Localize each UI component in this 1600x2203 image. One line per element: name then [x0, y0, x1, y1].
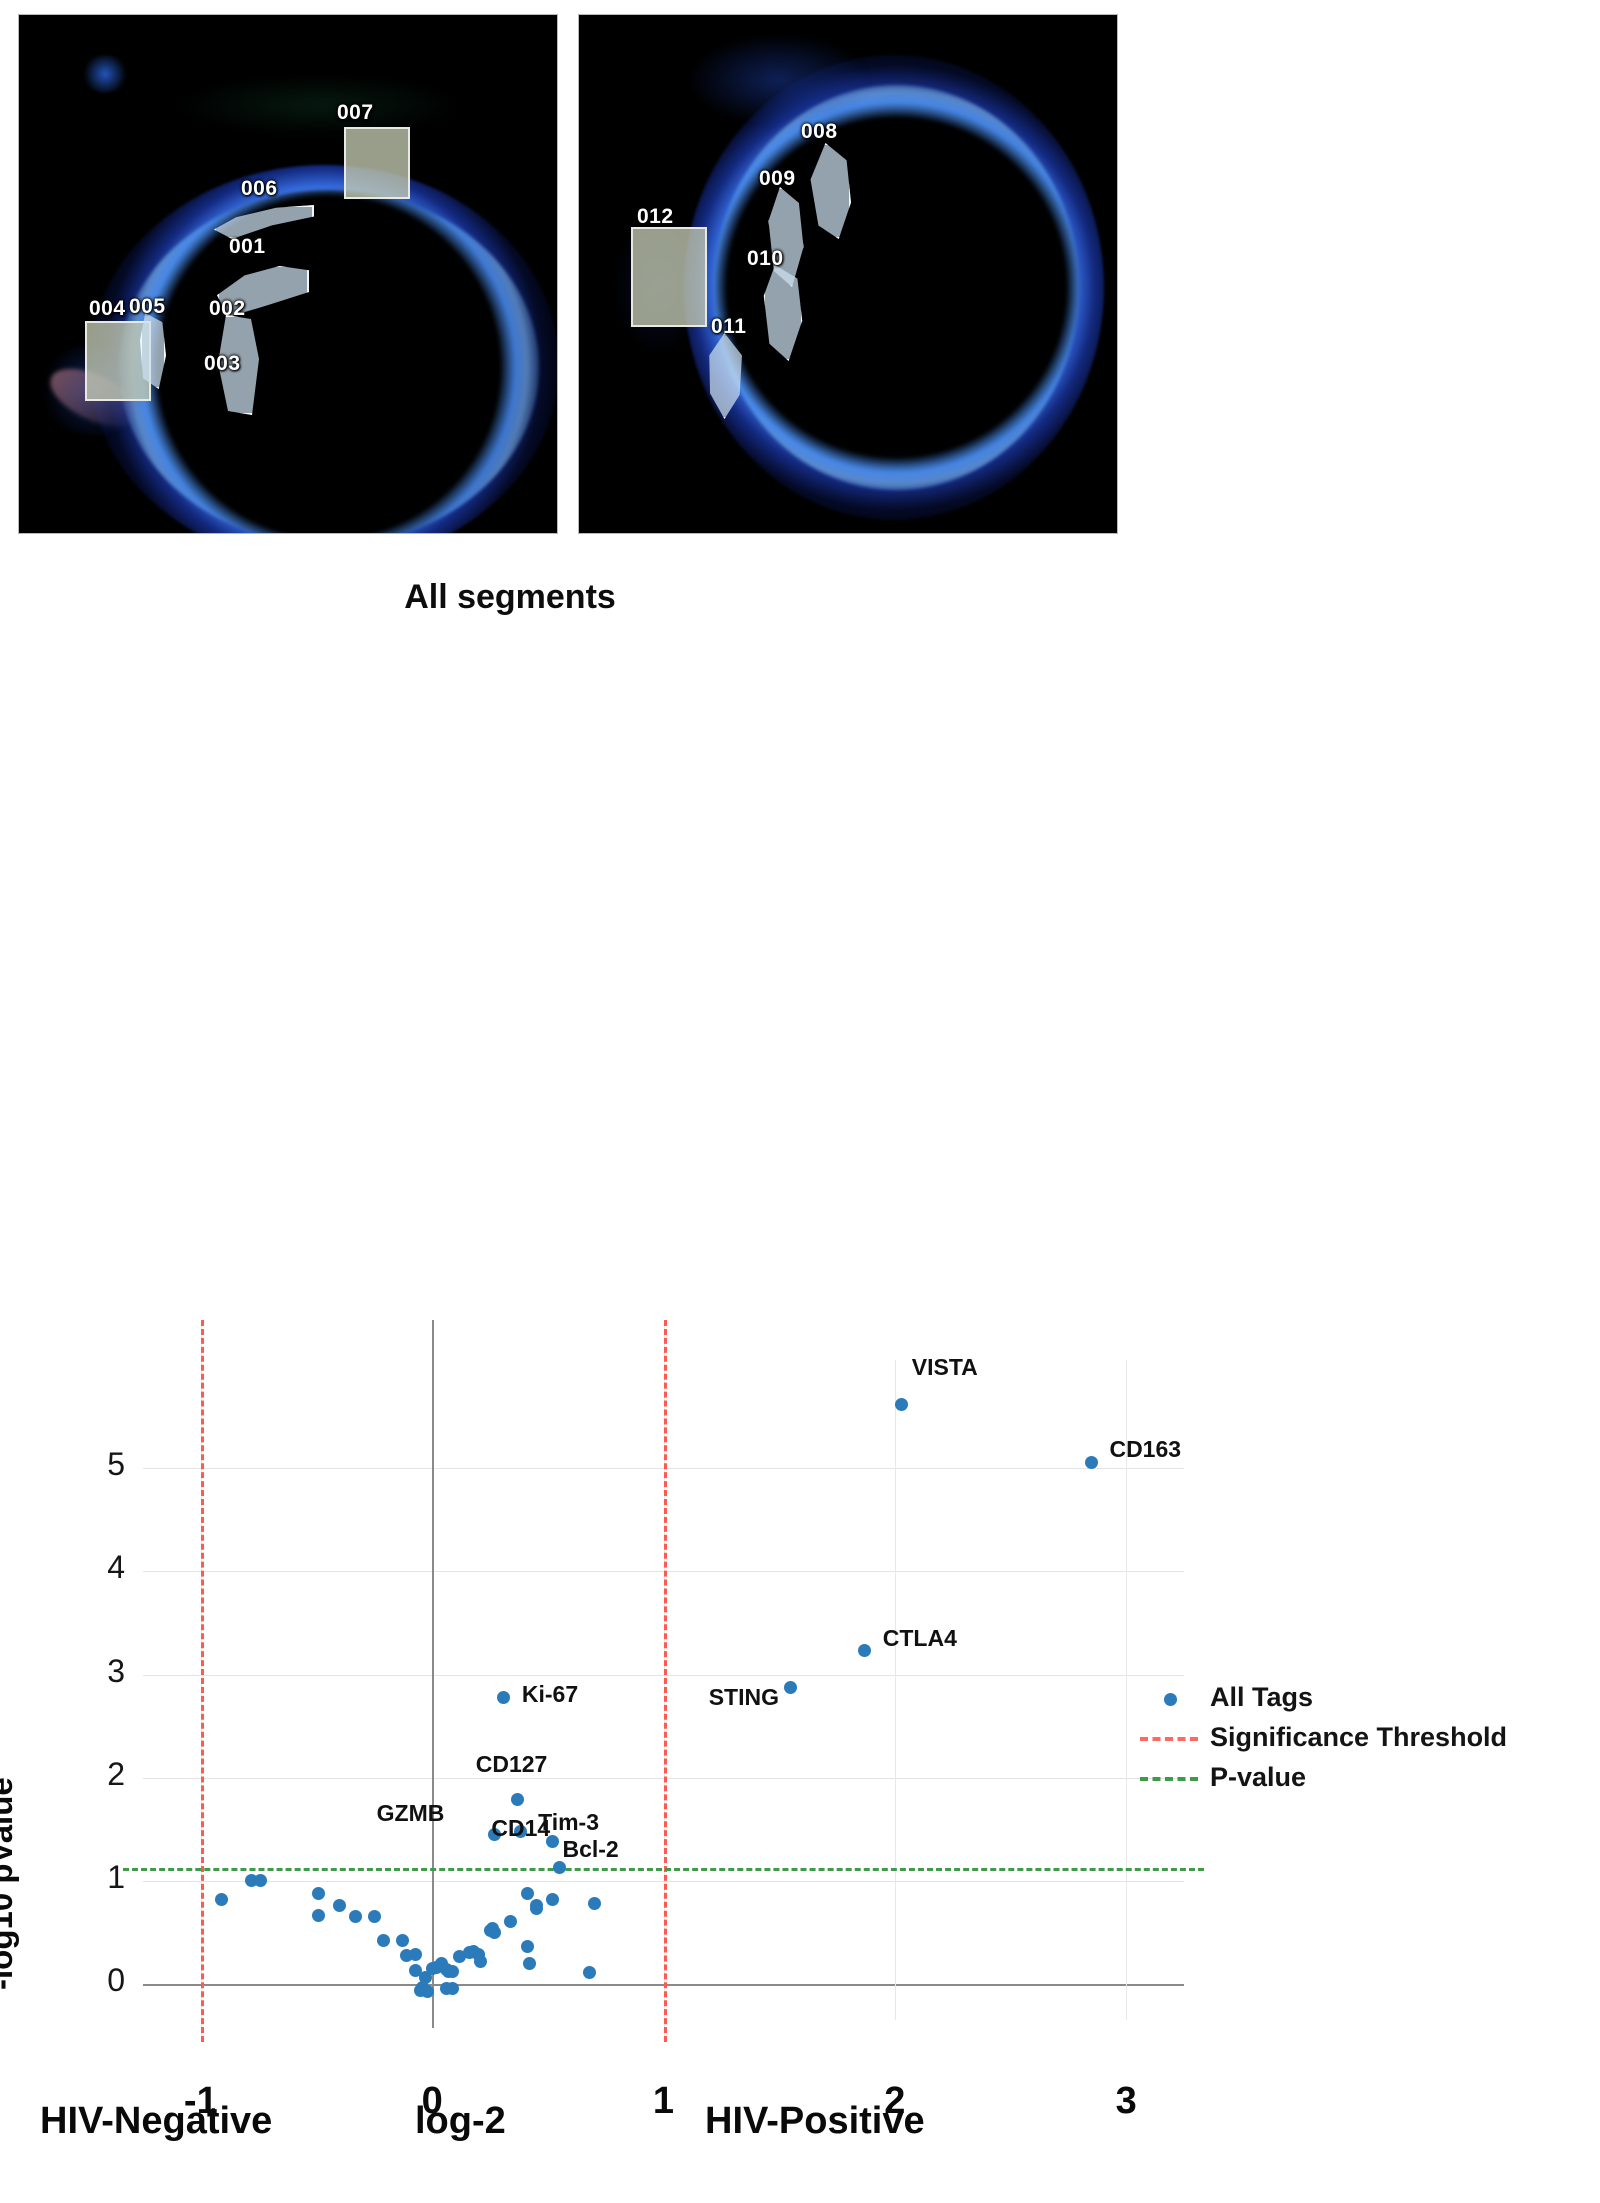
data-point-label-CD127: CD127 [476, 1751, 548, 1778]
legend-dot-icon [1164, 1693, 1177, 1706]
x-tick-1: 1 [624, 2080, 704, 2123]
data-point[interactable] [521, 1940, 534, 1953]
data-point-label-Ki-67: Ki-67 [522, 1681, 578, 1708]
hiv-negative-tissue-panel: 007006001002003004005 [18, 14, 558, 534]
data-point[interactable] [488, 1926, 501, 1939]
data-point-label-VISTA: VISTA [912, 1354, 978, 1381]
y-tick-0: 0 [65, 1962, 125, 1999]
plot-area: VISTACD163CTLA4STINGKi-67CD127GZMBTim-3B… [143, 1360, 1184, 2020]
x-tick-3: 3 [1086, 2080, 1166, 2123]
data-point[interactable] [583, 1966, 596, 1979]
data-point[interactable] [546, 1893, 559, 1906]
hiv-negative-caption: HIV-Negative [40, 2100, 272, 2143]
data-point[interactable] [421, 1985, 434, 1998]
roi-label-006: 006 [241, 177, 278, 201]
data-point[interactable] [446, 1965, 459, 1978]
data-point-CTLA4[interactable] [858, 1644, 871, 1657]
data-point[interactable] [377, 1934, 390, 1947]
data-point[interactable] [396, 1934, 409, 1947]
data-point-label-Bcl-2: Bcl-2 [562, 1836, 618, 1863]
roi-label-012: 012 [637, 205, 674, 229]
legend-item-all-tags[interactable]: All Tags [1140, 1680, 1590, 1720]
y-tick-5: 5 [65, 1446, 125, 1483]
data-point-CD14[interactable] [553, 1861, 566, 1874]
microscopy-panel-row: 007006001002003004005 008009010011012 [0, 0, 1600, 545]
significance-threshold-line [201, 1320, 204, 2042]
x-axis-title: log-2 [415, 2100, 506, 2143]
legend-item-significance-threshold[interactable]: Significance Threshold [1140, 1720, 1590, 1760]
data-point-VISTA[interactable] [895, 1398, 908, 1411]
legend-dashdot-line-icon [1140, 1777, 1198, 1781]
data-point[interactable] [215, 1893, 228, 1906]
legend-label: All Tags [1210, 1682, 1313, 1713]
roi-label-011: 011 [711, 315, 746, 339]
data-point[interactable] [523, 1957, 536, 1970]
roi-label-003: 003 [204, 352, 241, 376]
hiv-positive-tissue-panel: 008009010011012 [578, 14, 1118, 534]
roi-label-008: 008 [801, 120, 838, 144]
tissue-ring-inner [119, 190, 539, 534]
data-point[interactable] [588, 1897, 601, 1910]
data-point-STING[interactable] [784, 1681, 797, 1694]
tissue-fragment [81, 55, 129, 93]
legend-label: Significance Threshold [1210, 1722, 1507, 1753]
tissue-fragment [689, 35, 869, 125]
gridline-x-2 [895, 1360, 896, 2020]
roi-label-010: 010 [747, 247, 784, 271]
data-point-Ki-67[interactable] [497, 1691, 510, 1704]
data-point[interactable] [349, 1910, 362, 1923]
data-point-label-CD163: CD163 [1109, 1436, 1181, 1463]
data-point[interactable] [368, 1910, 381, 1923]
roi-label-001: 001 [229, 235, 266, 259]
roi-region-007[interactable] [344, 127, 410, 199]
chart-legend: All TagsSignificance ThresholdP-value [1140, 1680, 1590, 1800]
data-point[interactable] [333, 1899, 346, 1912]
data-point[interactable] [409, 1948, 422, 1961]
data-point-label-STING: STING [709, 1684, 779, 1711]
data-point[interactable] [254, 1874, 267, 1887]
data-point-label-CTLA4: CTLA4 [883, 1625, 957, 1652]
data-point[interactable] [312, 1909, 325, 1922]
pvalue-threshold-line [123, 1868, 1204, 1871]
tissue-autofluorescence [179, 75, 459, 135]
legend-dashed-line-icon [1140, 1737, 1198, 1741]
roi-label-007: 007 [337, 101, 374, 125]
data-point[interactable] [530, 1902, 543, 1915]
y-axis-title: -log10 pValue [0, 1777, 20, 1990]
data-point-label-GZMB: GZMB [377, 1800, 445, 1827]
roi-label-004: 004 [89, 297, 126, 321]
data-point-CD127[interactable] [511, 1793, 524, 1806]
volcano-plot: -log10 pValue 012345 -10123 VISTACD163CT… [0, 660, 1600, 2203]
y-tick-1: 1 [65, 1859, 125, 1896]
hiv-positive-caption: HIV-Positive [705, 2100, 925, 2143]
data-point[interactable] [312, 1887, 325, 1900]
y-tick-3: 3 [65, 1653, 125, 1690]
y-tick-4: 4 [65, 1549, 125, 1586]
roi-label-005: 005 [129, 295, 166, 319]
significance-threshold-line [664, 1320, 667, 2042]
roi-region-004[interactable] [85, 321, 151, 401]
y-tick-2: 2 [65, 1756, 125, 1793]
legend-label: P-value [1210, 1762, 1306, 1793]
data-point[interactable] [504, 1915, 517, 1928]
roi-label-009: 009 [759, 167, 796, 191]
data-point[interactable] [446, 1982, 459, 1995]
gridline-x-0 [432, 1320, 434, 2028]
legend-item-p-value[interactable]: P-value [1140, 1760, 1590, 1800]
data-point[interactable] [474, 1955, 487, 1968]
chart-title: All segments [300, 578, 720, 617]
data-point-CD163[interactable] [1085, 1456, 1098, 1469]
roi-region-012[interactable] [631, 227, 707, 327]
data-point-label-CD14: CD14 [491, 1815, 550, 1842]
data-point[interactable] [521, 1887, 534, 1900]
